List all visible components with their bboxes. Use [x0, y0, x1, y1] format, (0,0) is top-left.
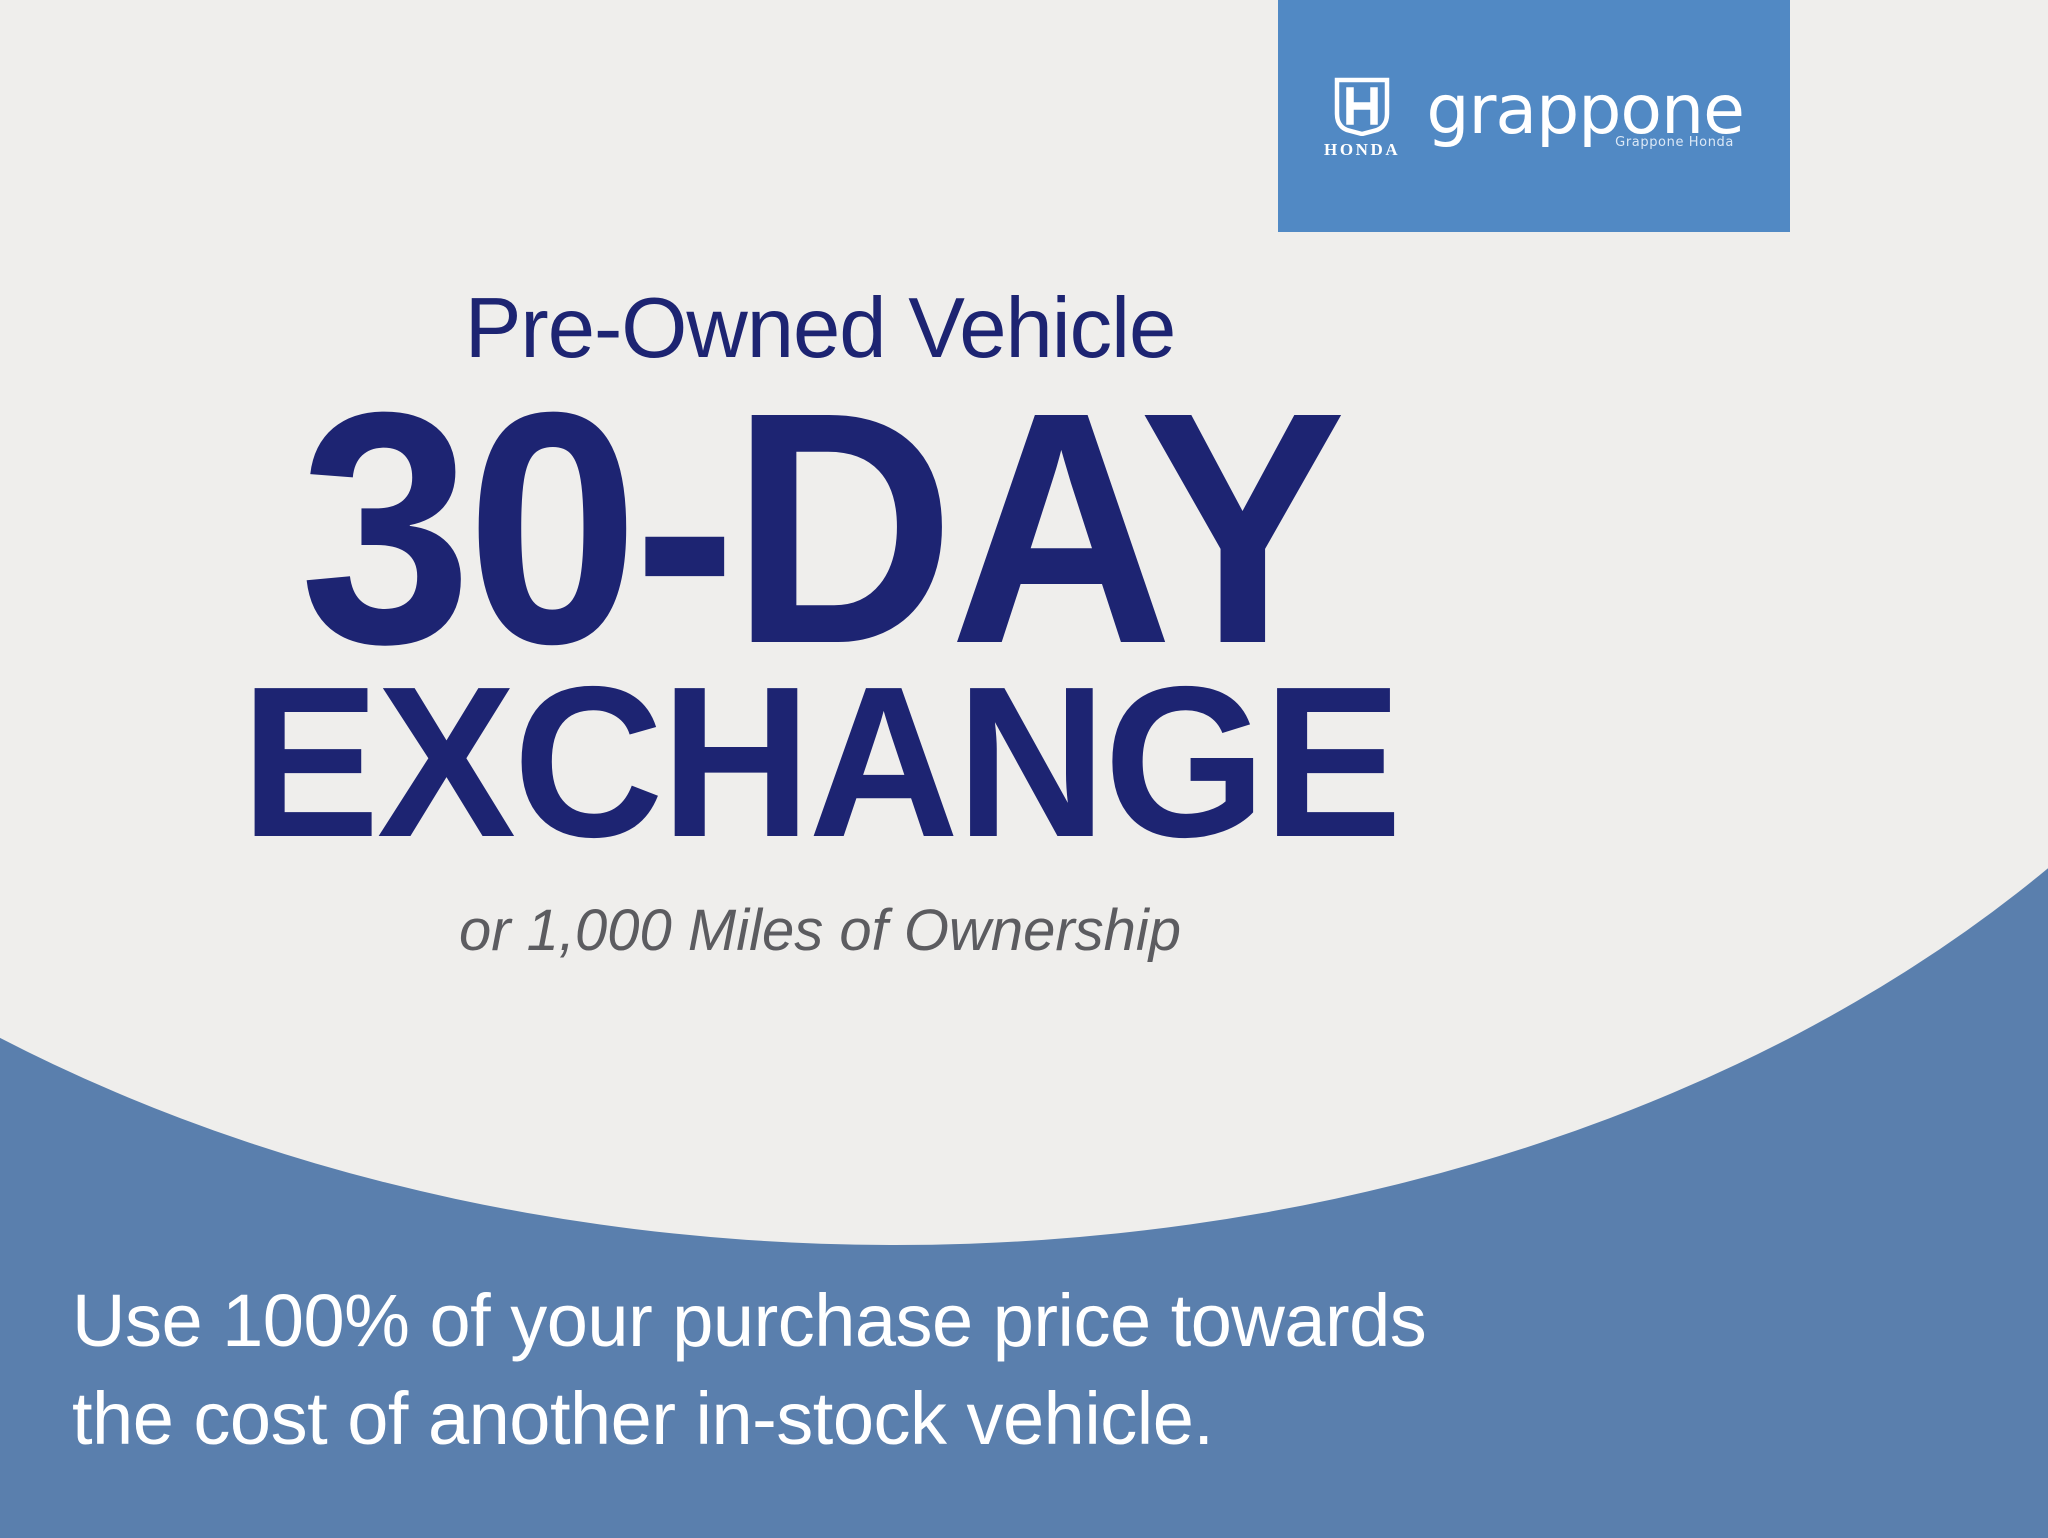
grappone-subtitle: Grappone Honda — [1615, 135, 1734, 150]
honda-h-emblem-icon — [1329, 74, 1395, 136]
headline-primary: 30-DAY — [49, 393, 1591, 664]
grappone-lockup: grappone Grappone Honda — [1426, 82, 1744, 149]
dealer-logo-plate[interactable]: HONDA grappone Grappone Honda — [1278, 0, 1790, 232]
body-copy-line-2: the cost of another in-stock vehicle. — [72, 1370, 1672, 1468]
honda-wordmark: HONDA — [1324, 141, 1400, 158]
grappone-wordmark: grappone — [1426, 82, 1744, 140]
headline-subhead: or 1,000 Miles of Ownership — [0, 902, 1640, 960]
body-copy: Use 100% of your purchase price towards … — [72, 1272, 1672, 1467]
body-copy-line-1: Use 100% of your purchase price towards — [72, 1272, 1672, 1370]
headline-block: Pre-Owned Vehicle 30-DAY EXCHANGE or 1,0… — [0, 286, 1640, 960]
promo-poster: HONDA grappone Grappone Honda Pre-Owned … — [0, 0, 2048, 1538]
honda-brand-mark: HONDA — [1324, 74, 1400, 158]
headline-secondary: EXCHANGE — [25, 670, 1616, 855]
